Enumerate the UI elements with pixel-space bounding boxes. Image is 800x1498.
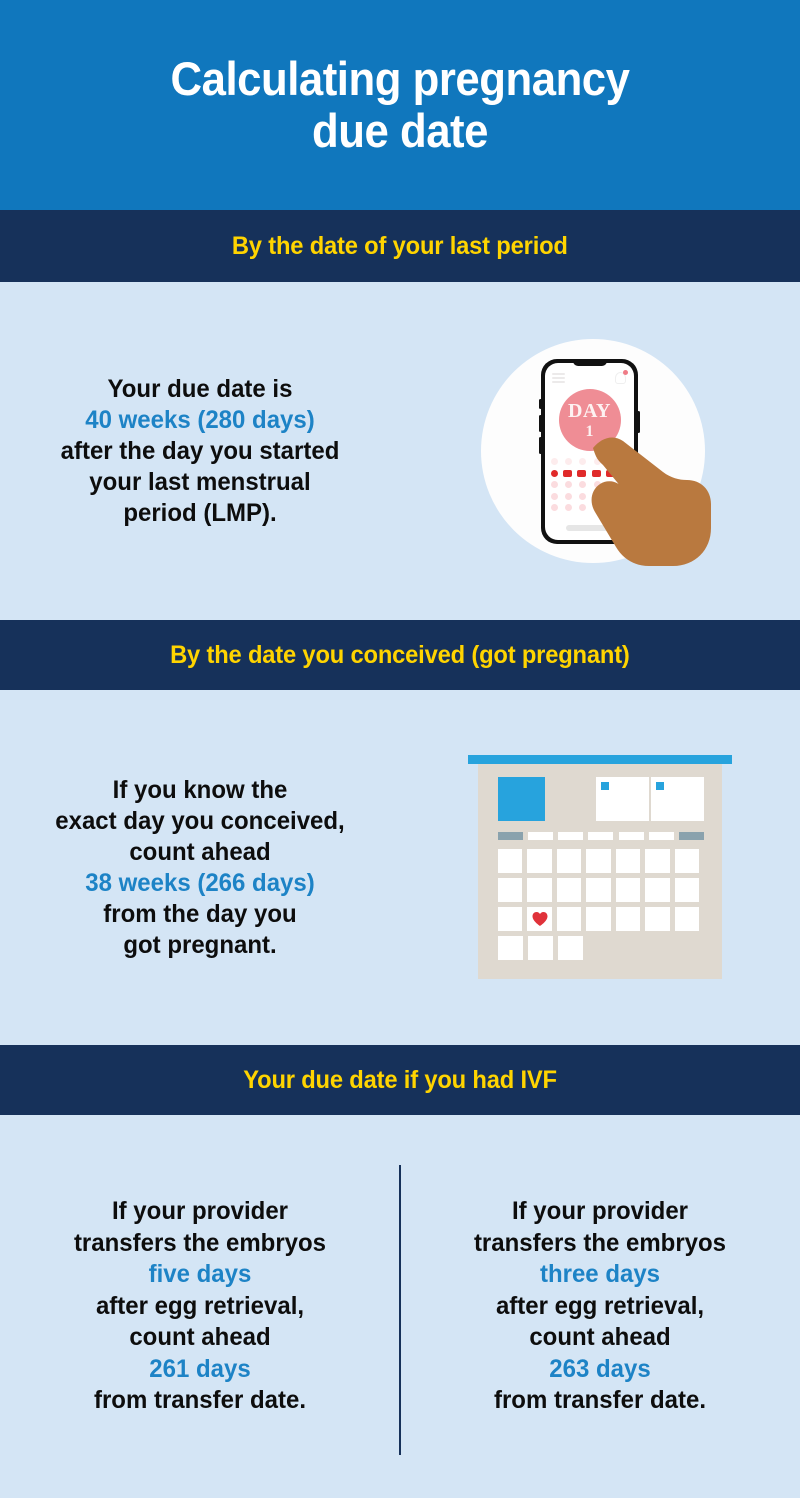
copy-line-4: count ahead — [29, 1322, 371, 1354]
copy-highlight-1: three days — [429, 1259, 771, 1291]
calendar-day-grid — [498, 849, 704, 965]
notification-dot-icon — [623, 370, 628, 375]
calendar-week-row — [498, 878, 704, 902]
calendar-top-bar — [468, 755, 732, 764]
copy-line-1: If your provider — [429, 1196, 771, 1228]
section-band-label: Your due date if you had IVF — [243, 1066, 557, 1095]
infographic-root: Calculating pregnancy due date By the da… — [0, 0, 800, 1498]
ivf-column-three-day: If your provider transfers the embryos t… — [408, 1196, 792, 1417]
calendar-month-block — [498, 777, 545, 821]
phone-button-power-icon — [637, 411, 640, 433]
copy-line-3: your last menstrual — [25, 467, 374, 498]
copy-line-4: from the day you — [25, 899, 374, 930]
period-tracker-phone-icon: DAY 1 — [475, 336, 725, 566]
page-title: Calculating pregnancy due date — [102, 53, 697, 156]
section-panel-conception-date: If you know the exact day you conceived,… — [0, 690, 800, 1045]
section-band-ivf: Your due date if you had IVF — [0, 1045, 800, 1115]
copy-highlight-1: 40 weeks (280 days) — [25, 405, 374, 436]
copy-line-4: period (LMP). — [25, 498, 374, 529]
calendar-week-row — [498, 849, 704, 873]
copy-line-5: got pregnant. — [25, 930, 374, 961]
copy-line-3: count ahead — [25, 837, 374, 868]
copy-line-2: transfers the embryos — [429, 1228, 771, 1260]
conception-illustration — [400, 743, 800, 993]
conception-copy: If you know the exact day you conceived,… — [8, 775, 392, 961]
ivf-column-five-day: If your provider transfers the embryos f… — [8, 1196, 392, 1417]
hamburger-menu-icon — [552, 373, 565, 385]
copy-line-1: Your due date is — [25, 374, 374, 405]
calendar-note-card — [651, 777, 704, 821]
copy-highlight-1: five days — [29, 1259, 371, 1291]
last-period-copy: Your due date is 40 weeks (280 days) aft… — [8, 374, 392, 529]
copy-line-4: count ahead — [429, 1322, 771, 1354]
copy-line-2: exact day you conceived, — [25, 806, 374, 837]
section-panel-last-period: Your due date is 40 weeks (280 days) aft… — [0, 282, 800, 620]
calendar-weekday-header — [498, 832, 704, 840]
calendar-week-row — [498, 907, 704, 931]
wall-calendar-icon — [464, 743, 736, 993]
copy-line-5: from transfer date. — [29, 1385, 371, 1417]
section-band-last-period: By the date of your last period — [0, 210, 800, 282]
section-panel-ivf: If your provider transfers the embryos f… — [0, 1115, 800, 1498]
title-line-2: due date — [312, 104, 488, 157]
copy-line-1: If your provider — [29, 1196, 371, 1228]
copy-highlight-2: 263 days — [429, 1354, 771, 1386]
ivf-column-divider — [399, 1165, 401, 1455]
last-period-illustration: DAY 1 — [400, 336, 800, 566]
copy-line-2: after the day you started — [25, 436, 374, 467]
copy-line-5: from transfer date. — [429, 1385, 771, 1417]
copy-line-1: If you know the — [25, 775, 374, 806]
section-band-label: By the date you conceived (got pregnant) — [170, 641, 630, 670]
copy-line-3: after egg retrieval, — [29, 1291, 371, 1323]
calendar-week-row — [498, 936, 704, 960]
section-band-conception-date: By the date you conceived (got pregnant) — [0, 620, 800, 690]
title-line-1: Calculating pregnancy — [170, 52, 629, 105]
day-label: DAY — [568, 401, 611, 421]
calendar-paper — [478, 764, 722, 979]
calendar-note-card — [596, 777, 649, 821]
title-header: Calculating pregnancy due date — [0, 0, 800, 210]
copy-highlight-1: 38 weeks (266 days) — [25, 868, 374, 899]
copy-highlight-2: 261 days — [29, 1354, 371, 1386]
section-band-label: By the date of your last period — [232, 232, 568, 261]
phone-button-volume-up-icon — [539, 415, 542, 432]
copy-line-3: after egg retrieval, — [429, 1291, 771, 1323]
copy-line-2: transfers the embryos — [29, 1228, 371, 1260]
phone-button-silent-icon — [539, 399, 542, 409]
pointing-hand-icon — [591, 432, 713, 566]
phone-button-volume-down-icon — [539, 437, 542, 454]
phone-notch — [573, 359, 607, 366]
heart-icon — [532, 911, 548, 926]
